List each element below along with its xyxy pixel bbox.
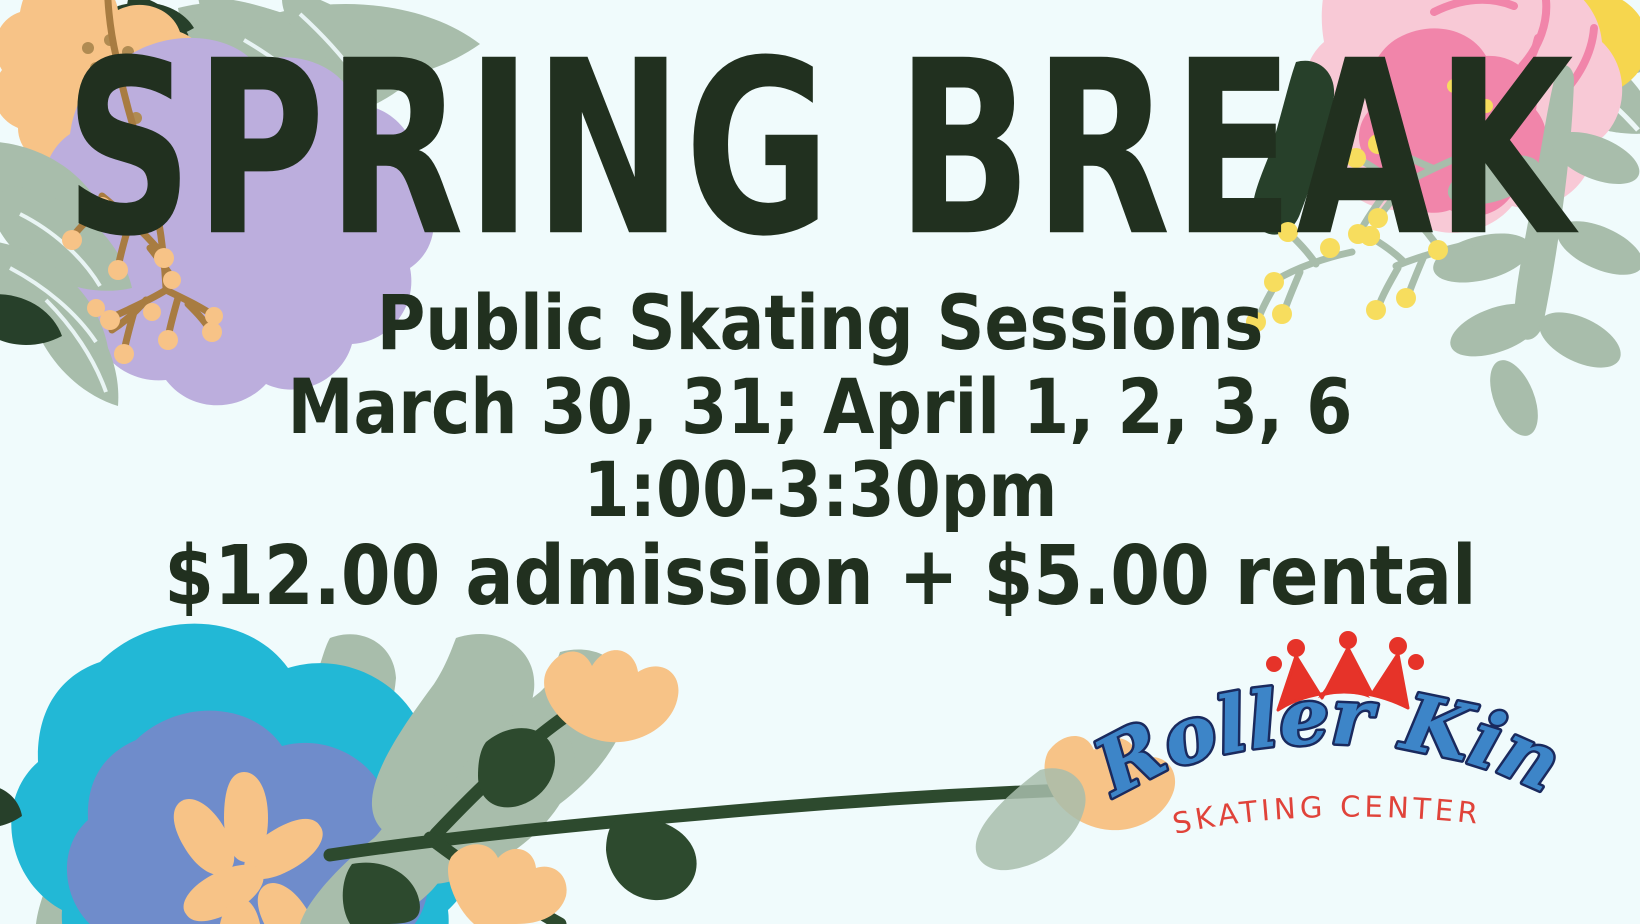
dark-green-leaf-tr <box>1253 61 1334 235</box>
bottom-center-branch <box>300 634 1175 924</box>
logo-tagline: SKATING CENTER <box>1170 790 1484 841</box>
svg-text:SKATING CENTER: SKATING CENTER <box>1170 790 1484 841</box>
svg-text:Roller King: Roller King <box>1082 612 1572 815</box>
top-left-floral-cluster <box>0 0 480 406</box>
top-right-floral-cluster <box>1246 0 1640 443</box>
roller-king-logo: Roller King Roller King SKATING CENTER <box>1082 612 1572 857</box>
logo-wordmark: Roller King Roller King <box>1082 612 1572 815</box>
sage-leaf-right-bc <box>976 768 1086 870</box>
poster-canvas: SPRING BREAK Public Skating Sessions Mar… <box>0 0 1640 924</box>
